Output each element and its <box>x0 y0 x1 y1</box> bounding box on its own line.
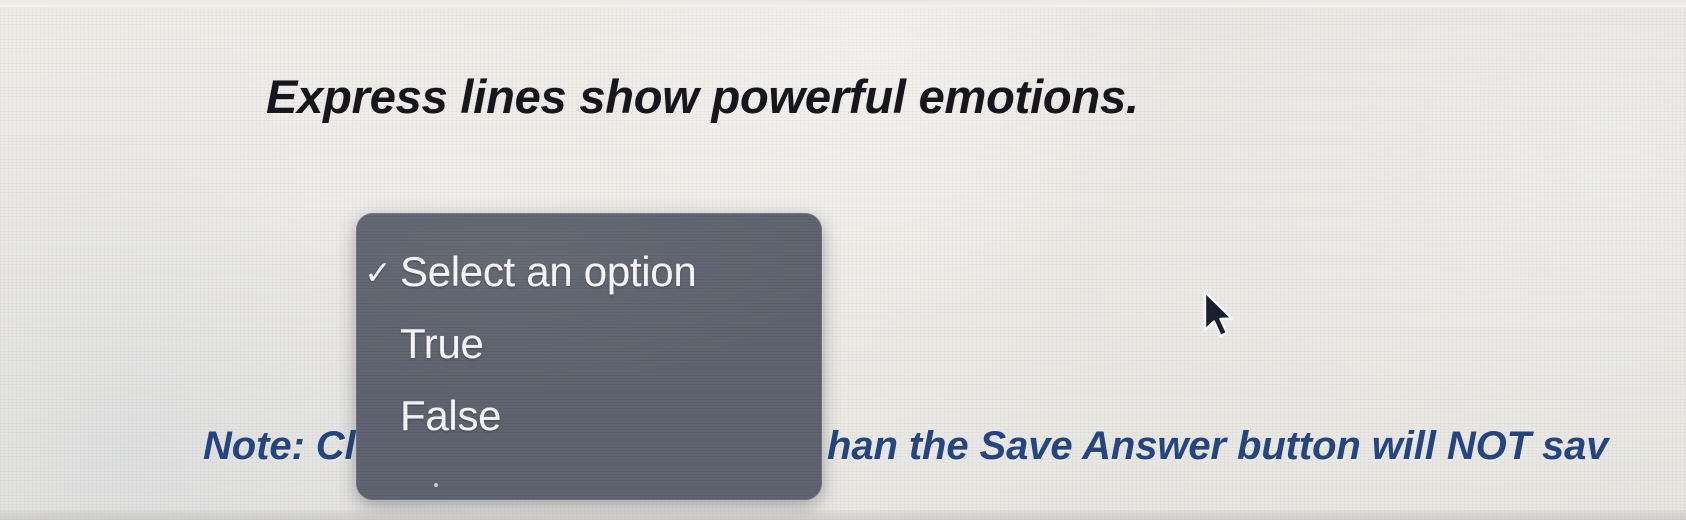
note-text-right-fragment: han the Save Answer button will NOT sav <box>827 424 1608 469</box>
dropdown-option-select-an-option[interactable]: ✓ Select an option <box>356 242 822 302</box>
dropdown-option-true[interactable]: True <box>356 314 822 374</box>
dropdown-option-false[interactable]: False <box>356 386 822 446</box>
checkmark-icon: ✓ <box>356 256 400 289</box>
dropdown-options-popup[interactable]: ✓ Select an option True False <box>356 213 822 500</box>
dropdown-option-label: False <box>400 392 501 440</box>
screen-photo: Express lines show powerful emotions. No… <box>0 0 1686 520</box>
note-text-left-fragment: Note: Cl <box>203 424 356 469</box>
dropdown-option-label: True <box>400 320 484 368</box>
dropdown-option-label: Select an option <box>400 248 696 296</box>
question-statement: Express lines show powerful emotions. <box>266 69 1139 124</box>
